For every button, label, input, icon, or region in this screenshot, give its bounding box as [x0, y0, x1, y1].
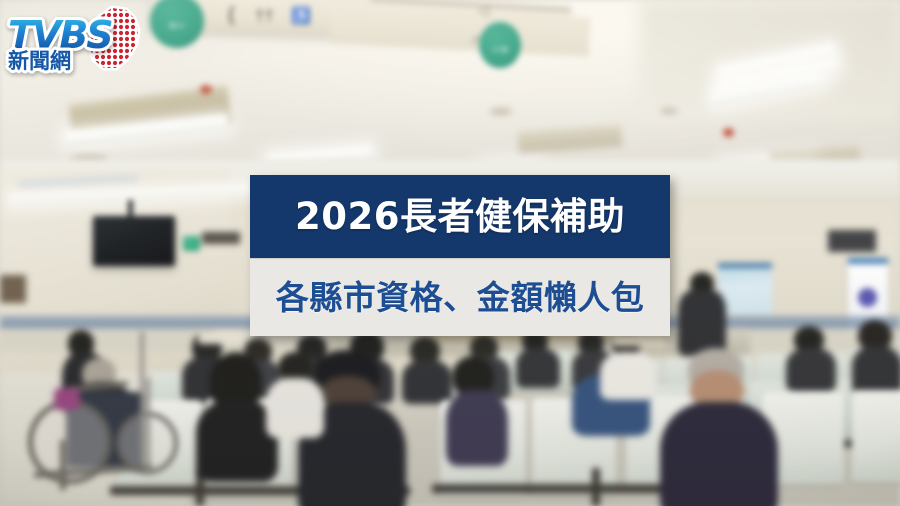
person-torso [852, 346, 900, 396]
person-torso [266, 378, 324, 438]
title-card: 2026長者健保補助 各縣市資格、金額懶人包 [250, 175, 670, 336]
sign-icon-bracket: ( [228, 4, 235, 27]
counter-items [198, 330, 244, 344]
person-torso [678, 290, 726, 356]
bag-body [54, 388, 80, 410]
person-torso [446, 390, 508, 466]
wall-picture-frame [0, 275, 26, 303]
iv-drip-pole [146, 378, 150, 474]
chair-leg [592, 468, 600, 506]
person-torso [402, 360, 452, 404]
waiting-chair [852, 390, 900, 482]
sign-icon-accessible: ♿ [291, 6, 311, 26]
logo-subtext: 新聞網 [8, 51, 112, 72]
wheelchair-frame-bar [60, 440, 66, 490]
ceiling-smoke-detector [200, 85, 212, 94]
arrow-right-icon: → [487, 32, 513, 58]
ceiling-smoke-detector [723, 128, 734, 137]
banner-circle-purple [858, 288, 877, 307]
arrow-left-icon: ← [164, 8, 190, 34]
headline-text: 2026長者健保補助 [295, 198, 625, 235]
wall-display-screen [828, 230, 876, 252]
sign-icon-triangle: ◁ [478, 2, 489, 19]
directional-sign-right: → [479, 22, 521, 68]
headline-bar: 2026長者健保補助 [250, 175, 670, 258]
news-thumbnail-image: ( †† ♿ ➚ ◁ ← → [0, 0, 900, 506]
wall-equipment-box [202, 232, 240, 244]
logo-text-group: TVBS 新聞網 [8, 16, 112, 72]
subheadline-bar: 各縣市資格、金額懶人包 [250, 258, 670, 336]
iv-drip-pole [140, 332, 144, 460]
sign-icon-restroom: †† [255, 6, 274, 26]
wall-poster-health [718, 263, 772, 315]
ceiling-sprinkler [490, 108, 512, 115]
person-torso [660, 402, 778, 506]
tvbs-news-logo: TVBS 新聞網 [4, 4, 150, 78]
person-torso [516, 348, 560, 388]
ceiling-sprinkler [660, 108, 678, 114]
wall-mounted-monitor [93, 216, 175, 266]
subheadline-text: 各縣市資格、金額懶人包 [276, 281, 645, 314]
emergency-exit-sign [183, 236, 200, 251]
person-torso [786, 348, 836, 392]
person-torso [600, 352, 656, 400]
